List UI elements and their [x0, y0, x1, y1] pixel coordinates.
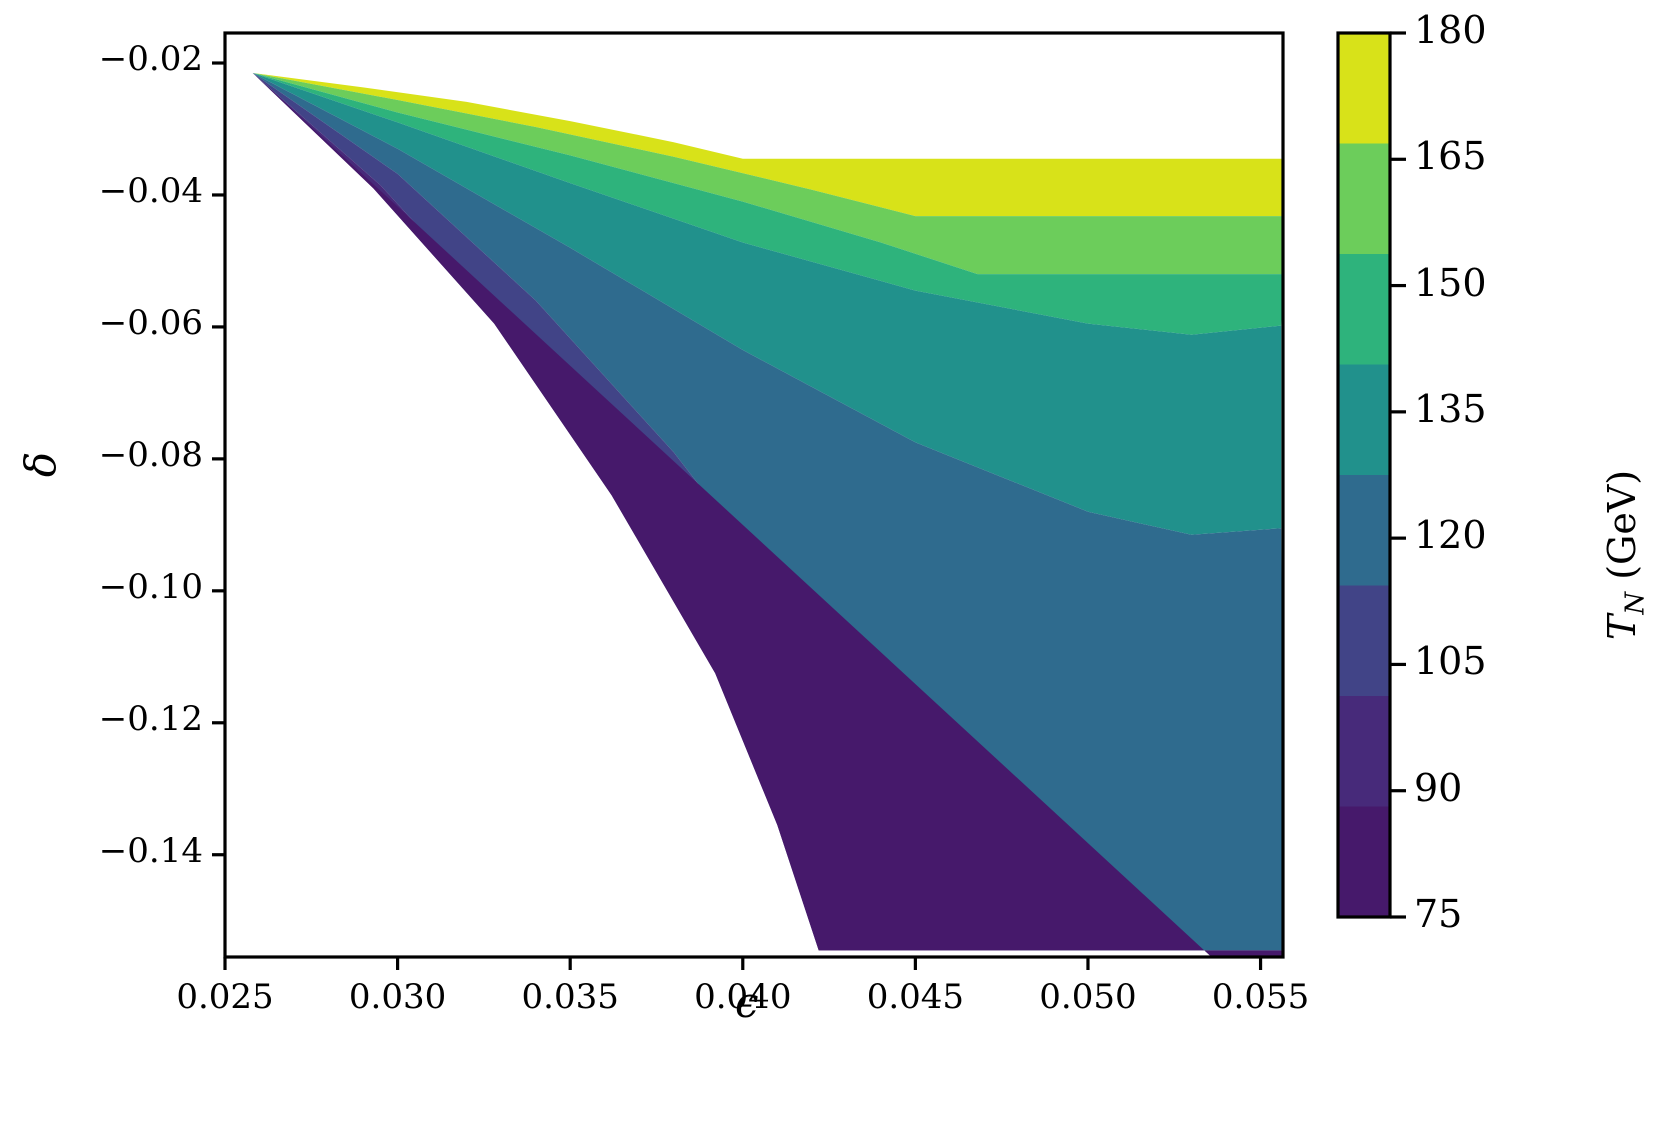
colorbar-band-135-150 [1338, 254, 1390, 365]
colorbar-label-unit: (GeV) [1600, 470, 1644, 592]
colorbar-tick-label: 90 [1414, 766, 1462, 810]
colorbar-tick-label: 105 [1414, 639, 1487, 683]
colorbar-band-105-120 [1338, 475, 1390, 586]
colorbar-label-symbol: T [1600, 615, 1644, 640]
colorbar-label-subscript: N [1621, 592, 1651, 615]
colorbar-band-120-135 [1338, 365, 1390, 476]
colorbar-tick-marks [1390, 33, 1406, 917]
y-tick-marks [212, 63, 225, 855]
colorbar-band-90-105 [1338, 586, 1390, 697]
y-tick-label: −0.04 [0, 171, 203, 211]
colorbar-axis-label: TN (GeV) [1600, 470, 1651, 640]
colorbar-tick-label: 75 [1414, 892, 1462, 936]
y-tick-label: −0.12 [0, 699, 203, 739]
y-axis-label: δ [16, 452, 65, 477]
x-tick-label: 0.035 [498, 977, 642, 1017]
y-tick-label: −0.02 [0, 39, 203, 79]
colorbar-tick-label: 135 [1414, 387, 1487, 431]
x-tick-label: 0.055 [1189, 977, 1333, 1017]
x-tick-label: 0.025 [153, 977, 297, 1017]
colorbar-tick-label: 180 [1414, 8, 1487, 52]
colorbar-swatches [1338, 33, 1390, 918]
colorbar-tick-label: 150 [1414, 261, 1487, 305]
figure-canvas: 0.0250.0300.0350.0400.0450.0500.055 −0.0… [0, 0, 1663, 1123]
colorbar-tick-label: 120 [1414, 513, 1487, 557]
x-tick-marks [225, 957, 1261, 970]
x-tick-label: 0.050 [1016, 977, 1160, 1017]
colorbar-band-75-82.5 [1338, 807, 1390, 918]
colorbar-tick-label: 165 [1414, 134, 1487, 178]
y-tick-label: −0.14 [0, 831, 203, 871]
y-tick-label: −0.06 [0, 303, 203, 343]
colorbar-band-82.5-90 [1338, 696, 1390, 807]
contour-band-group [253, 73, 1283, 1023]
y-tick-label: −0.10 [0, 567, 203, 607]
colorbar-band-150-165 [1338, 144, 1390, 255]
x-axis-label: ϵ [735, 978, 759, 1027]
x-tick-label: 0.045 [843, 977, 987, 1017]
colorbar-band-165-180 [1338, 33, 1390, 144]
x-tick-label: 0.030 [326, 977, 470, 1017]
